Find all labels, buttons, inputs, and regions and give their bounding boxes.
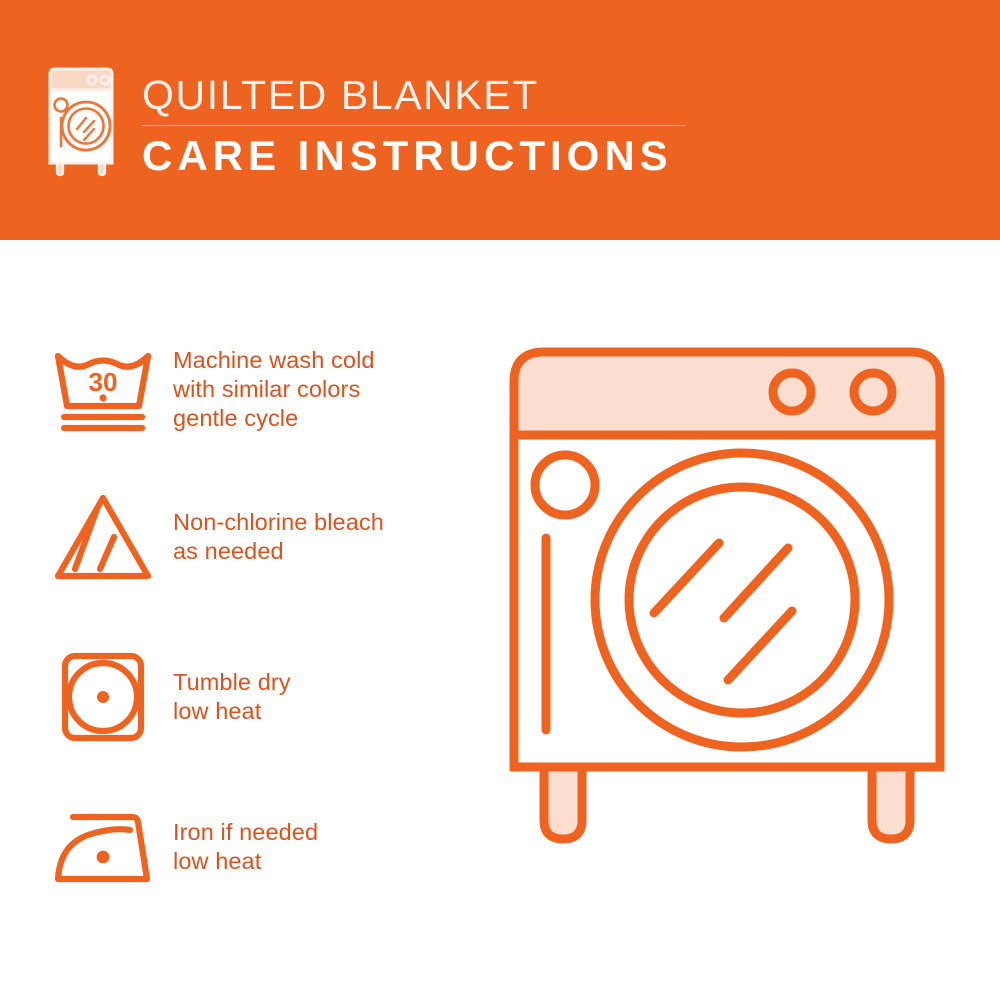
care-item-line: gentle cycle bbox=[173, 404, 375, 433]
care-item-machine-wash: 30 Machine wash cold with similar colors… bbox=[0, 334, 480, 444]
care-item-iron: Iron if needed low heat bbox=[0, 792, 480, 902]
machine-leg-right bbox=[872, 767, 910, 839]
care-item-line: Tumble dry bbox=[173, 668, 291, 697]
care-instructions-page: QUILTED BLANKET CARE INSTRUCTIONS 30 bbox=[0, 0, 1000, 1000]
machine-leg-left bbox=[544, 767, 582, 839]
non-chlorine-bleach-triangle-icon bbox=[44, 482, 162, 592]
care-item-line: low heat bbox=[173, 697, 291, 726]
header-title-block: QUILTED BLANKET CARE INSTRUCTIONS bbox=[142, 72, 702, 180]
wash-tub-30-icon: 30 bbox=[44, 334, 162, 444]
care-item-line: Non-chlorine bleach bbox=[173, 508, 384, 537]
front-load-washing-machine-illustration bbox=[492, 330, 962, 930]
machine-control-panel bbox=[514, 352, 940, 435]
care-item-label: Machine wash cold with similar colors ge… bbox=[173, 346, 375, 433]
tumble-dry-low-icon bbox=[44, 642, 162, 752]
title-divider bbox=[142, 125, 685, 126]
care-item-label: Iron if needed low heat bbox=[173, 818, 318, 876]
page-title-primary: QUILTED BLANKET bbox=[142, 72, 702, 118]
care-item-line: with similar colors bbox=[173, 375, 375, 404]
care-item-bleach: Non-chlorine bleach as needed bbox=[0, 482, 480, 592]
iron-low-heat-icon bbox=[44, 792, 162, 902]
wash-temperature-value: 30 bbox=[89, 367, 118, 397]
care-item-line: as needed bbox=[173, 537, 384, 566]
washing-machine-icon bbox=[44, 66, 118, 178]
care-instructions-list: 30 Machine wash cold with similar colors… bbox=[0, 240, 480, 1000]
care-item-label: Non-chlorine bleach as needed bbox=[173, 508, 384, 566]
care-item-tumble-dry: Tumble dry low heat bbox=[0, 642, 480, 752]
page-title-secondary: CARE INSTRUCTIONS bbox=[142, 132, 702, 180]
care-item-line: Iron if needed bbox=[173, 818, 318, 847]
care-item-line: low heat bbox=[173, 847, 318, 876]
header-band: QUILTED BLANKET CARE INSTRUCTIONS bbox=[0, 0, 1000, 240]
care-item-line: Machine wash cold bbox=[173, 346, 375, 375]
care-item-label: Tumble dry low heat bbox=[173, 668, 291, 726]
